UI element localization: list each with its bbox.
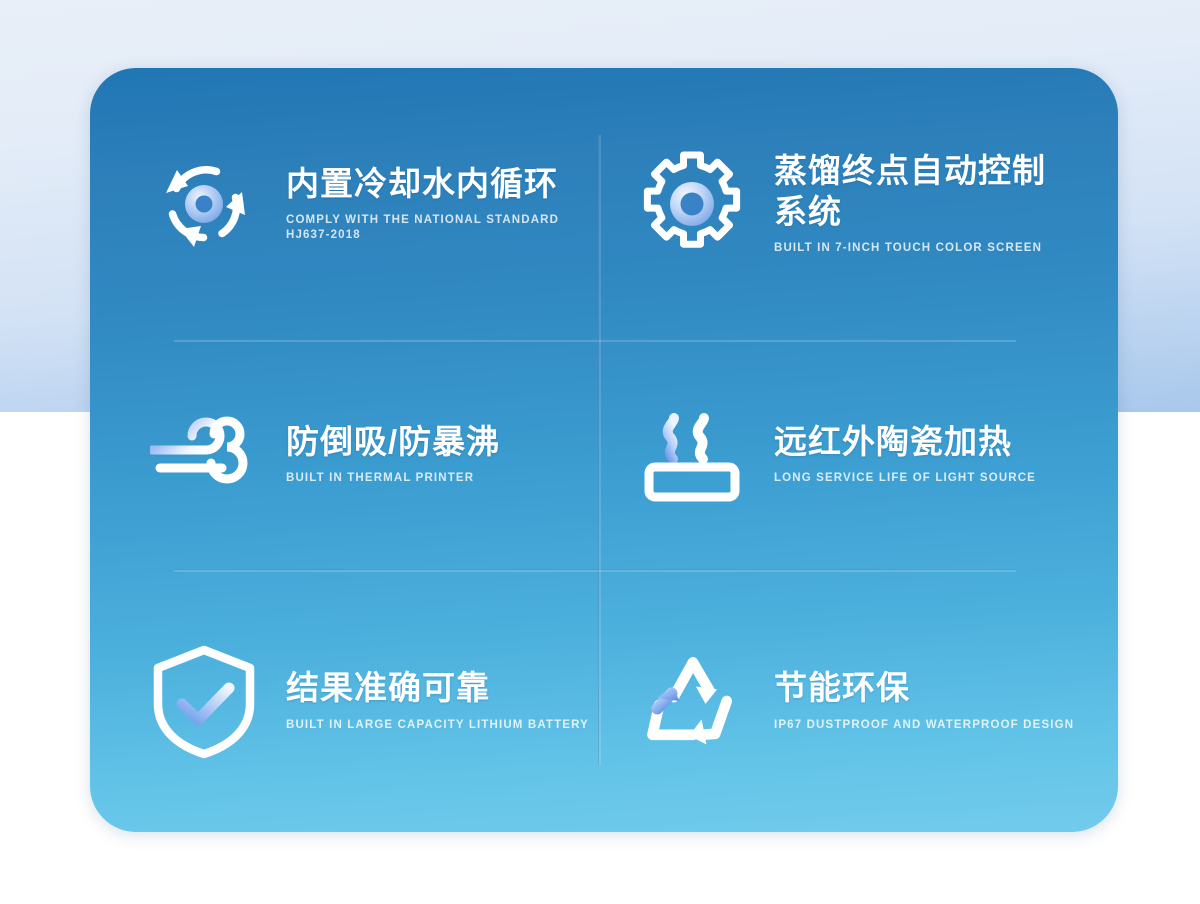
feature-cell-1[interactable]: 内置冷却水内循环 COMPLY WITH THE NATIONAL STANDA…	[90, 68, 598, 339]
page-root: 内置冷却水内循环 COMPLY WITH THE NATIONAL STANDA…	[0, 0, 1200, 904]
gear-icon	[636, 148, 748, 260]
feature-title: 结果准确可靠	[286, 668, 589, 708]
feature-card: 内置冷却水内循环 COMPLY WITH THE NATIONAL STANDA…	[90, 68, 1118, 832]
feature-subtitle: BUILT IN LARGE CAPACITY LITHIUM BATTERY	[286, 718, 589, 733]
recycle-icon	[636, 645, 748, 757]
feature-title: 蒸馏终点自动控制 系统	[774, 151, 1046, 232]
cycle-arrows-icon	[148, 148, 260, 260]
feature-subtitle: BUILT IN THERMAL PRINTER	[286, 471, 500, 486]
feature-cell-6[interactable]: 节能环保 IP67 DUSTPROOF AND WATERPROOF DESIG…	[598, 569, 1118, 832]
feature-title: 内置冷却水内循环	[286, 164, 598, 204]
feature-title: 远红外陶瓷加热	[774, 422, 1036, 462]
feature-grid: 内置冷却水内循环 COMPLY WITH THE NATIONAL STANDA…	[90, 68, 1118, 832]
feature-subtitle: COMPLY WITH THE NATIONAL STANDARD HJ637-…	[286, 213, 598, 243]
feature-title: 防倒吸/防暴沸	[286, 422, 500, 462]
feature-cell-3[interactable]: 防倒吸/防暴沸 BUILT IN THERMAL PRINTER	[90, 339, 598, 569]
feature-subtitle: IP67 DUSTPROOF AND WATERPROOF DESIGN	[774, 718, 1074, 733]
feature-cell-5[interactable]: 结果准确可靠 BUILT IN LARGE CAPACITY LITHIUM B…	[90, 569, 598, 832]
feature-cell-2[interactable]: 蒸馏终点自动控制 系统 BUILT IN 7-INCH TOUCH COLOR …	[598, 68, 1118, 339]
feature-title: 节能环保	[774, 668, 1074, 708]
feature-subtitle: BUILT IN 7-INCH TOUCH COLOR SCREEN	[774, 241, 1046, 256]
wind-icon	[148, 398, 260, 510]
heater-icon	[636, 398, 748, 510]
feature-cell-4[interactable]: 远红外陶瓷加热 LONG SERVICE LIFE OF LIGHT SOURC…	[598, 339, 1118, 569]
feature-subtitle: LONG SERVICE LIFE OF LIGHT SOURCE	[774, 471, 1036, 486]
shield-check-icon	[148, 645, 260, 757]
